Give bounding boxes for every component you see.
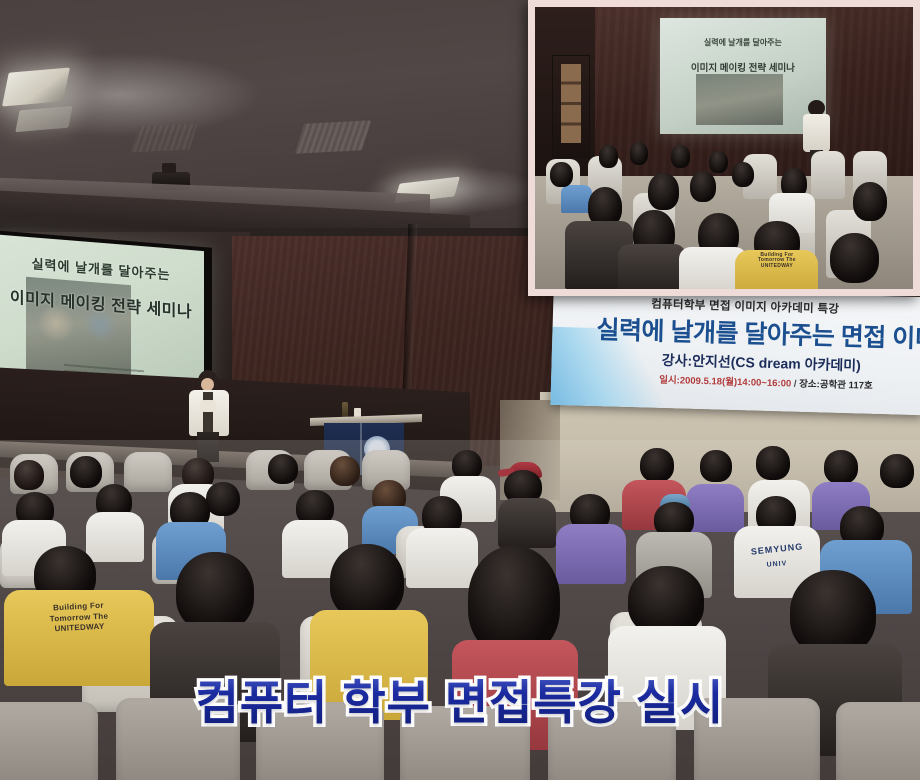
audience-head <box>880 454 914 488</box>
audience-head <box>268 454 298 484</box>
audience-head <box>14 460 44 490</box>
inset-audience-head <box>830 233 879 284</box>
inset-audience-head <box>671 145 690 168</box>
ceiling-light-icon <box>2 67 70 106</box>
inset-shirt-text-unitedway: Building For Tomorrow The UNITEDWAY <box>735 253 818 270</box>
inset-seat <box>811 151 845 199</box>
inset-audience-head <box>853 182 887 221</box>
audience-head <box>700 450 732 482</box>
inset-audience-head <box>550 162 573 187</box>
shirt-text-unitedway: Building For Tomorrow The UNITEDWAY <box>3 598 154 637</box>
inset-projection-screen: 실력에 날개를 달아주는 이미지 메이킹 전략 세미나 <box>660 18 826 134</box>
seat <box>124 452 172 492</box>
audience-head <box>640 448 674 482</box>
audience-head <box>70 456 102 488</box>
audience-torso <box>556 524 626 584</box>
lecture-hall-photo: 실력에 날개를 달아주는 이미지 메이킹 전략 세미나 컴퓨터학부 면접 이미지… <box>0 0 920 780</box>
audience-torso <box>686 484 744 532</box>
shirt-text-semyung: SEMYUNG <box>734 540 821 559</box>
photo-caption: 컴퓨터 학부 면접특강 실시 <box>0 664 920 733</box>
audience-head <box>330 456 360 486</box>
inset-audience-head <box>630 142 649 165</box>
ceiling-vent <box>295 120 372 153</box>
audience-head <box>330 544 404 620</box>
ceiling-vent-secondary <box>130 124 197 153</box>
inset-audience-head <box>690 171 716 202</box>
water-bottle <box>342 402 348 418</box>
audience-head <box>176 552 254 632</box>
banner-place: 장소:공학관 117호 <box>799 379 873 392</box>
speaker-inner-top <box>203 392 213 432</box>
inset-slide-line-1: 실력에 날개를 달아주는 <box>660 37 826 48</box>
inset-audience-head <box>599 145 618 168</box>
event-banner: 컴퓨터학부 면접 이미지 아카데미 특강 실력에 날개를 달아주는 면접 이미 … <box>550 287 920 415</box>
inset-audience-head <box>732 162 755 187</box>
audience-head <box>756 446 790 480</box>
audience-head <box>206 482 240 516</box>
speaker-arms <box>200 400 216 412</box>
inset-audience-head <box>648 173 678 210</box>
inset-photo: 실력에 날개를 달아주는 이미지 메이킹 전략 세미나 <box>528 0 920 296</box>
audience-head <box>824 450 858 484</box>
inset-speaker-jacket <box>803 114 829 152</box>
inset-slide-line-2: 이미지 메이킹 전략 세미나 <box>660 60 826 74</box>
inset-door <box>552 55 590 159</box>
audience-torso <box>498 498 556 548</box>
inset-audience-head <box>709 151 728 174</box>
shirt-text-semyung-sub: UNIV <box>734 557 820 573</box>
inset-photo-inner: 실력에 날개를 달아주는 이미지 메이킹 전략 세미나 <box>535 7 913 289</box>
inset-audience-torso <box>618 244 686 289</box>
inset-audience-torso-unitedway: Building For Tomorrow The UNITEDWAY <box>735 250 818 289</box>
audience-torso <box>86 512 144 562</box>
audience-torso <box>406 528 478 588</box>
inset-slide-photo <box>696 74 782 125</box>
